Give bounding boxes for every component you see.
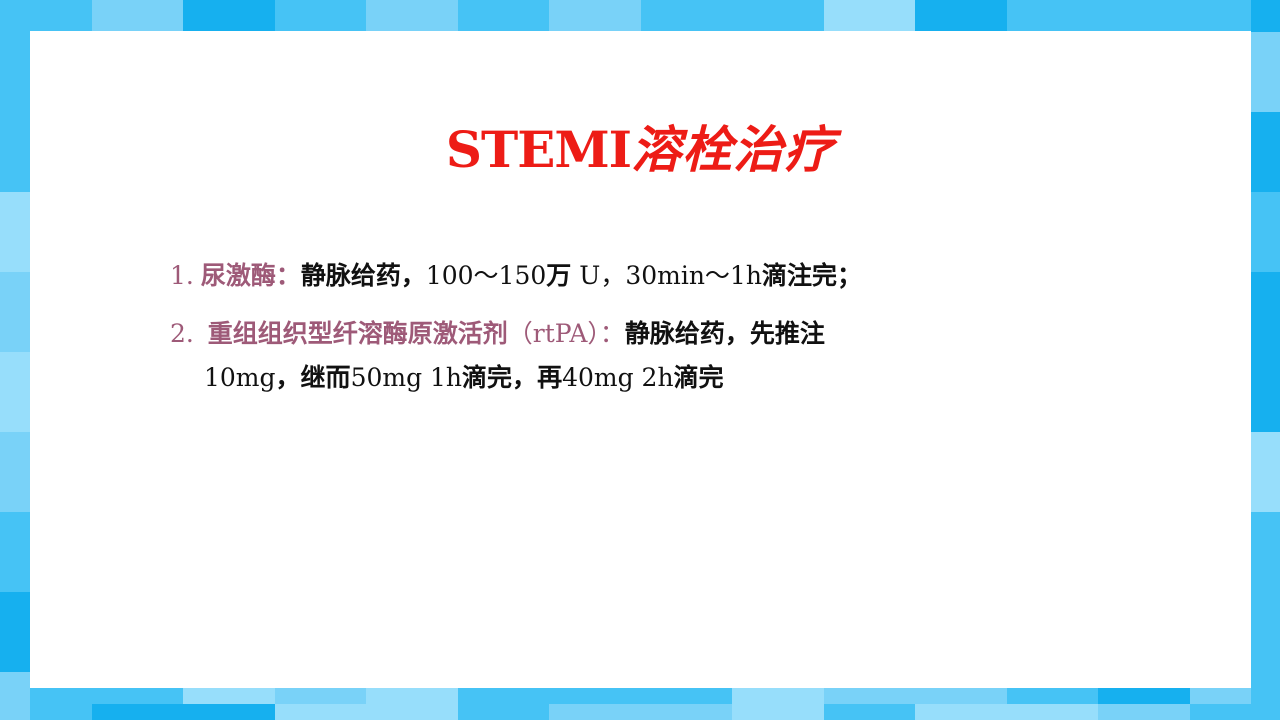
list-item-seg: 滴注完； (762, 261, 862, 290)
frame-block-bottom1 (1007, 688, 1100, 704)
frame-block-bottom2 (1098, 704, 1191, 720)
frame-block-left (0, 192, 30, 272)
list-item-seg: 滴完 (674, 363, 724, 392)
list-item-seg: 万 (546, 261, 571, 290)
frame-block-bottom2 (183, 704, 276, 720)
frame-block-left (0, 592, 30, 672)
frame-block-left (0, 672, 30, 720)
list-item-seg: 静脉给药， (301, 261, 426, 290)
frame-block-right (1251, 192, 1280, 272)
list-item-term-abbr: rtPA (533, 319, 588, 348)
list-item-wrapped-line: 10mg，继而50mg 1h滴完，再40mg 2h滴完 (170, 355, 1170, 401)
frame-block-bottom2 (458, 704, 551, 720)
frame-block-left (0, 512, 30, 592)
frame-block-left (0, 32, 30, 112)
frame-block-bottom1 (458, 688, 551, 704)
list-item-marker: 2. (170, 319, 194, 348)
frame-block-bottom1 (549, 688, 642, 704)
frame-block-top (458, 0, 551, 32)
frame-block-bottom1 (275, 688, 368, 704)
frame-block-top (183, 0, 276, 32)
frame-block-top (366, 0, 459, 32)
frame-block-bottom1 (824, 688, 917, 704)
list-item-term: 重组组织型纤溶酶原激活剂 (208, 319, 508, 348)
list-item-seg: 10mg (204, 363, 276, 392)
slide: STEMI溶栓治疗 1. 尿激酶：静脉给药，100～150万 U，30min～1… (0, 0, 1280, 720)
list-item-seg: U，30min～1h (571, 261, 762, 290)
page-title-cjk: 溶栓治疗 (631, 121, 835, 179)
frame-block-bottom2 (366, 704, 459, 720)
frame-block-left (0, 352, 30, 432)
list-item-seg: 再 (537, 363, 562, 392)
list-item: 2. 重组组织型纤溶酶原激活剂（rtPA）：静脉给药，先推注 10mg，继而50… (170, 311, 1170, 401)
frame-block-bottom2 (732, 704, 825, 720)
frame-block-bottom2 (915, 704, 1008, 720)
frame-block-top (1098, 0, 1191, 32)
list-item-seg: 滴完， (462, 363, 537, 392)
list-item-term: 尿激酶： (201, 261, 301, 290)
frame-block-bottom1 (366, 688, 459, 704)
content-panel: STEMI溶栓治疗 1. 尿激酶：静脉给药，100～150万 U，30min～1… (30, 31, 1251, 688)
list-item-seg: 100～150 (426, 261, 546, 290)
list-item-term-paren-open: （ (508, 319, 533, 348)
frame-block-left (0, 272, 30, 352)
frame-block-right (1251, 32, 1280, 112)
frame-block-right (1251, 112, 1280, 192)
list-item-seg: 50mg 1h (351, 363, 462, 392)
list-item-seg: 40mg 2h (562, 363, 673, 392)
list-item-marker: 1. (170, 261, 194, 290)
frame-block-right (1251, 432, 1280, 512)
frame-block-bottom2 (824, 704, 917, 720)
frame-block-bottom1 (92, 688, 185, 704)
frame-block-right (1251, 672, 1280, 720)
frame-block-bottom1 (732, 688, 825, 704)
list-item: 1. 尿激酶：静脉给药，100～150万 U，30min～1h滴注完； (170, 253, 1170, 299)
frame-block-right (1251, 592, 1280, 672)
frame-block-bottom2 (92, 704, 185, 720)
page-title-latin: STEMI (446, 120, 631, 179)
frame-block-right (1251, 352, 1280, 432)
frame-corner-tl (0, 0, 92, 32)
frame-block-bottom2 (1007, 704, 1100, 720)
frame-block-top (915, 0, 1008, 32)
frame-block-left (0, 112, 30, 192)
frame-block-bottom1 (1098, 688, 1191, 704)
frame-block-left (0, 432, 30, 512)
list-item-seg: ， (276, 363, 301, 392)
frame-block-top (275, 0, 368, 32)
frame-block-right (1251, 512, 1280, 592)
list-item-seg: 继而 (301, 363, 351, 392)
frame-block-bottom1 (183, 688, 276, 704)
frame-block-bottom2 (275, 704, 368, 720)
frame-block-top (92, 0, 185, 32)
frame-block-top (549, 0, 642, 32)
frame-block-bottom2 (641, 704, 734, 720)
list-item-seg: 静脉给药，先推注 (625, 319, 825, 348)
list-item-term-paren-close: ）： (587, 319, 625, 348)
frame-corner-tr (1251, 0, 1280, 32)
frame-block-top (1007, 0, 1100, 32)
treatment-list: 1. 尿激酶：静脉给药，100～150万 U，30min～1h滴注完； 2. 重… (170, 253, 1170, 401)
frame-block-top (732, 0, 825, 32)
frame-block-top (824, 0, 917, 32)
frame-block-bottom1 (915, 688, 1008, 704)
frame-block-right (1251, 272, 1280, 352)
page-title: STEMI溶栓治疗 (30, 119, 1251, 181)
frame-block-bottom1 (641, 688, 734, 704)
frame-block-top (641, 0, 734, 32)
frame-block-bottom2 (549, 704, 642, 720)
